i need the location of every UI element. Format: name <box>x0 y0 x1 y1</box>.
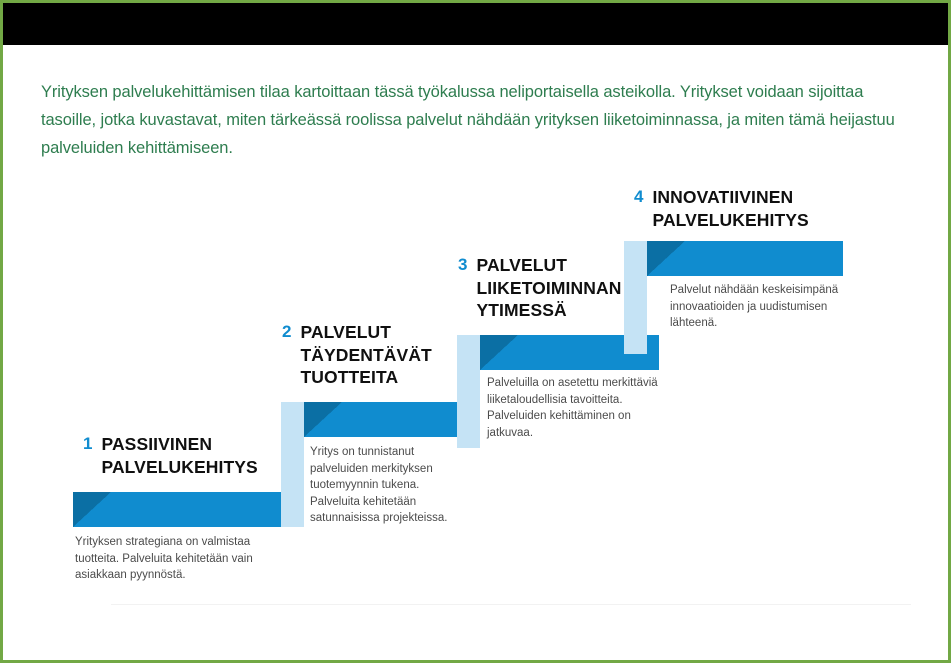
step-4-label: INNOVATIIVINEN PALVELUKEHITYS <box>652 186 808 231</box>
step-1-description: Yrityksen strategiana on valmistaa tuott… <box>75 534 280 584</box>
step-2-description: Yritys on tunnistanut palveluiden merkit… <box>310 444 470 527</box>
step-2-number: 2 <box>282 321 291 343</box>
step-2-bar <box>304 402 457 437</box>
step-3-label: PALVELUT LIIKETOIMINNAN YTIMESSÄ <box>476 254 621 322</box>
step-1-number: 1 <box>83 433 92 455</box>
step-1-bar <box>73 492 281 527</box>
step-2-label: PALVELUT TÄYDENTÄVÄT TUOTTEITA <box>300 321 431 389</box>
step-2-title: 2 PALVELUT TÄYDENTÄVÄT TUOTTEITA <box>282 321 472 389</box>
step-4-number: 4 <box>634 186 643 208</box>
page-root: Yrityksen palvelukehittämisen tilaa kart… <box>0 0 951 663</box>
step-4-title: 4 INNOVATIIVINEN PALVELUKEHITYS <box>634 186 864 231</box>
step-1-label: PASSIIVINEN PALVELUKEHITYS <box>101 433 257 478</box>
step-4-description: Palvelut nähdään keskeisimpänä innovaati… <box>670 282 870 332</box>
footer-divider <box>111 604 911 605</box>
step-3-number: 3 <box>458 254 467 276</box>
step-3-riser <box>457 335 480 448</box>
step-4-riser <box>624 241 647 354</box>
staircase-diagram: 1 PASSIIVINEN PALVELUKEHITYS Yrityksen s… <box>3 3 948 660</box>
step-1-title: 1 PASSIIVINEN PALVELUKEHITYS <box>83 433 283 478</box>
step-4-bar <box>647 241 843 276</box>
step-2-riser <box>281 402 304 527</box>
step-3-description: Palveluilla on asetettu merkittäviä liik… <box>487 375 660 441</box>
